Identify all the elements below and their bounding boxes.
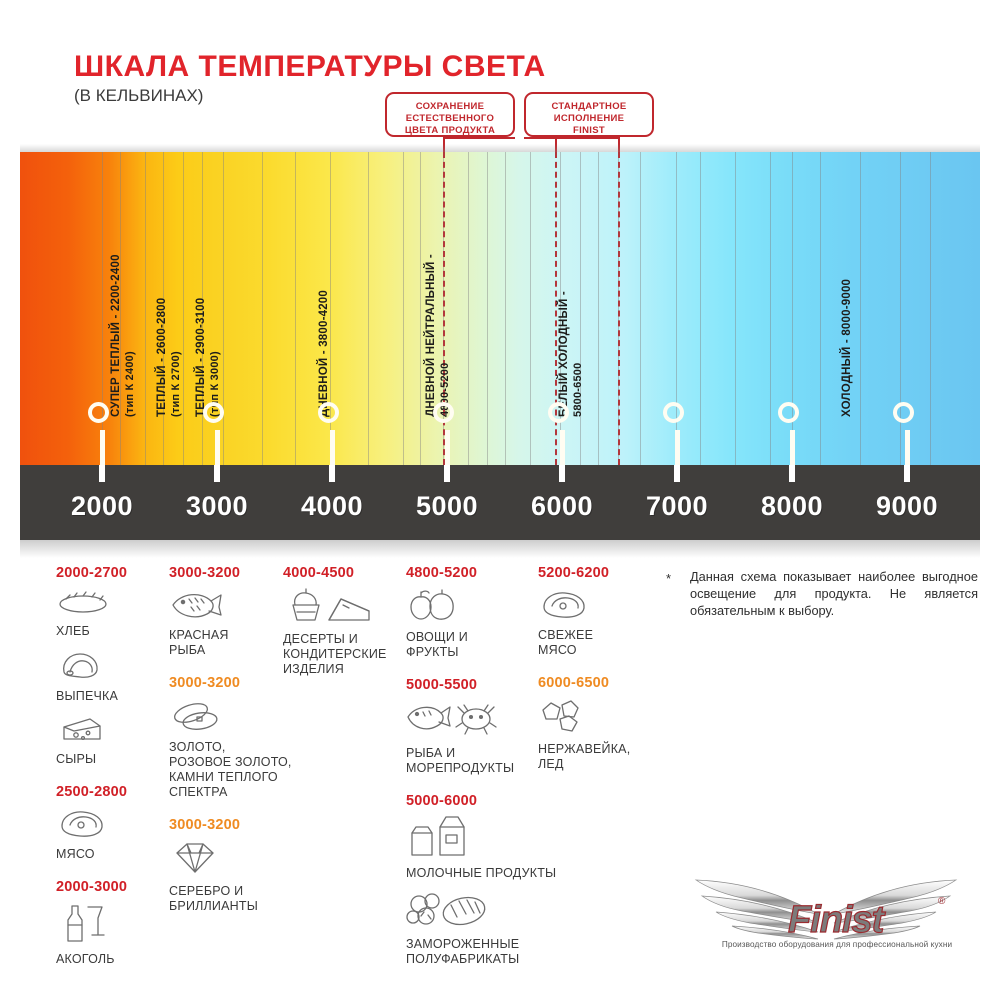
band-marker-stem — [675, 430, 680, 465]
band-divider — [770, 152, 771, 465]
legend-item-label: ЗАМОРОЖЕННЫЕ ПОЛУФАБРИКАТЫ — [406, 937, 556, 967]
band-divider — [295, 152, 296, 465]
legend-item-label: СЫРЫ — [56, 752, 127, 767]
band-marker-circle — [893, 402, 914, 423]
band-marker-stem — [445, 430, 450, 465]
legend-item-label: МЯСО — [56, 847, 127, 862]
legend-block: 4800-5200ОВОЩИ И ФРУКТЫ — [406, 565, 556, 660]
band-marker-circle — [433, 402, 454, 423]
legend-item: ЗОЛОТО, РОЗОВОЕ ЗОЛОТО, КАМНИ ТЕПЛОГО СП… — [169, 697, 292, 800]
legend-block: 3000-3200СЕРЕБРО И БРИЛЛИАНТЫ — [169, 817, 292, 914]
legend-item: ХЛЕБ — [56, 587, 127, 639]
legend-item: СЕРЕБРО И БРИЛЛИАНТЫ — [169, 839, 292, 914]
band-label-daylight: ДНЕВНОЙ - 3800-4200 — [318, 290, 330, 417]
scale-tick — [214, 465, 220, 482]
diamond-icon — [169, 839, 292, 882]
band-marker-circle — [663, 402, 684, 423]
legend-item: ОВОЩИ И ФРУКТЫ — [406, 587, 556, 660]
bread-icon — [56, 587, 127, 622]
legend-item: СЫРЫ — [56, 713, 127, 767]
legend-block: 2000-2700ХЛЕБВЫПЕЧКАСЫРЫ — [56, 565, 127, 767]
frozen-icon — [406, 890, 556, 935]
band-divider — [420, 152, 421, 465]
pastry-icon — [56, 648, 127, 687]
legend-item-label: СВЕЖЕЕ МЯСО — [538, 628, 630, 658]
callout-connector — [524, 137, 618, 139]
legend-item-label: РЫБА И МОРЕПРОДУКТЫ — [406, 746, 556, 776]
band-divider — [820, 152, 821, 465]
legend-range-label: 5200-6200 — [538, 565, 630, 581]
callout-line: СТАНДАРТНОЕ — [532, 101, 646, 113]
legend-item: РЫБА И МОРЕПРОДУКТЫ — [406, 699, 556, 776]
callout-line: ЕСТЕСТВЕННОГО — [393, 113, 507, 125]
logo-registered-mark: ® — [938, 896, 945, 907]
legend-block: 5000-6000МОЛОЧНЫЕ ПРОДУКТЫЗАМОРОЖЕННЫЕ П… — [406, 793, 556, 967]
band-divider — [368, 152, 369, 465]
reference-dashed-line — [618, 152, 620, 465]
seafood-icon — [406, 699, 556, 744]
scale-bar-shadow — [20, 540, 980, 558]
band-divider — [860, 152, 861, 465]
band-divider — [530, 152, 531, 465]
ice-icon — [538, 697, 630, 740]
legend-item-label: КРАСНАЯ РЫБА — [169, 628, 292, 658]
callout-line: FINIST — [532, 125, 646, 137]
band-divider — [468, 152, 469, 465]
cheese-icon — [56, 713, 127, 750]
legend-column-1: 2000-2700ХЛЕБВЫПЕЧКАСЫРЫ2500-2800МЯСО200… — [56, 565, 127, 984]
scale-tick — [329, 465, 335, 482]
legend-block: 3000-3200КРАСНАЯ РЫБА — [169, 565, 292, 658]
footnote: * Данная схема показывает наиболее выгод… — [666, 568, 978, 619]
legend-block: 2000-3000АКОГОЛЬ — [56, 879, 127, 967]
band-marker-stem — [215, 430, 220, 465]
band-divider — [183, 152, 184, 465]
legend-range-label: 3000-3200 — [169, 565, 292, 581]
legend-range-label: 3000-3200 — [169, 817, 292, 833]
scale-value-4000: 4000 — [301, 491, 363, 522]
band-label-warm-2700: ТЕПЛЫЙ - 2600-2800 — [156, 298, 168, 417]
band-marker-circle — [318, 402, 339, 423]
legend-item: МЯСО — [56, 806, 127, 862]
fresh-meat-icon — [538, 587, 630, 626]
callout-line: ИСПОЛНЕНИЕ — [532, 113, 646, 125]
legend-column-5: 5200-6200СВЕЖЕЕ МЯСО6000-6500НЕРЖАВЕЙКА,… — [538, 565, 630, 789]
finist-logo: Finist ® Производство оборудования для п… — [676, 866, 976, 966]
scale-value-5000: 5000 — [416, 491, 478, 522]
legend-item-label: ЗОЛОТО, РОЗОВОЕ ЗОЛОТО, КАМНИ ТЕПЛОГО СП… — [169, 740, 292, 800]
legend-item-label: ХЛЕБ — [56, 624, 127, 639]
callout-line: ЦВЕТА ПРОДУКТА — [393, 125, 507, 137]
legend-block: 5200-6200СВЕЖЕЕ МЯСО — [538, 565, 630, 658]
logo-brand-text: Finist — [788, 899, 883, 942]
legend-range-label: 4000-4500 — [283, 565, 387, 581]
fruits-icon — [406, 587, 556, 628]
scale-tick — [674, 465, 680, 482]
band-divider — [505, 152, 506, 465]
legend-range-label: 6000-6500 — [538, 675, 630, 691]
callout-line: СОХРАНЕНИЕ — [393, 101, 507, 113]
band-divider — [145, 152, 146, 465]
band-divider — [262, 152, 263, 465]
gold-rings-icon — [169, 697, 292, 738]
band-divider — [223, 152, 224, 465]
legend-block: 3000-3200ЗОЛОТО, РОЗОВОЕ ЗОЛОТО, КАМНИ Т… — [169, 675, 292, 800]
footnote-marker: * — [666, 570, 671, 587]
logo-tagline: Производство оборудования для профессион… — [712, 940, 962, 949]
legend-item: НЕРЖАВЕЙКА, ЛЕД — [538, 697, 630, 772]
scale-tick — [99, 465, 105, 482]
legend-range-label: 4800-5200 — [406, 565, 556, 581]
band-marker-stem — [560, 430, 565, 465]
legend-range-label: 2500-2800 — [56, 784, 127, 800]
legend-block: 6000-6500НЕРЖАВЕЙКА, ЛЕД — [538, 675, 630, 772]
band-divider — [700, 152, 701, 465]
legend-item-label: АКОГОЛЬ — [56, 952, 127, 967]
band-marker-stem — [790, 430, 795, 465]
band-label-daylight-neutral: ДНЕВНОЙ НЕЙТРАЛЬНЫЙ - — [425, 254, 437, 417]
scale-tick — [559, 465, 565, 482]
legend-item-label: НЕРЖАВЕЙКА, ЛЕД — [538, 742, 630, 772]
dairy-icon — [406, 815, 556, 864]
band-marker-circle — [548, 402, 569, 423]
legend-item-label: ОВОЩИ И ФРУКТЫ — [406, 630, 556, 660]
band-label-white-cold: БЕЛЫЙ ХОЛОДНЫЙ - — [558, 291, 570, 417]
band-divider — [580, 152, 581, 465]
band-marker-stem — [100, 430, 105, 465]
band-marker-stem — [330, 430, 335, 465]
page-subtitle: (В КЕЛЬВИНАХ) — [74, 86, 203, 106]
scale-tick — [904, 465, 910, 482]
legend-block: 5000-5500РЫБА И МОРЕПРОДУКТЫ — [406, 677, 556, 776]
legend-column-3: 4000-4500ДЕСЕРТЫ И КОНДИТЕРСКИЕ ИЗДЕЛИЯ — [283, 565, 387, 694]
band-label-super-warm: (тип К 2400) — [124, 351, 136, 417]
dessert-icon — [283, 587, 387, 630]
band-label-super-warm: СУПЕР ТЕПЛЫЙ - 2200-2400 — [110, 254, 122, 417]
band-marker-circle — [203, 402, 224, 423]
legend-item: АКОГОЛЬ — [56, 901, 127, 967]
legend-item-label: ДЕСЕРТЫ И КОНДИТЕРСКИЕ ИЗДЕЛИЯ — [283, 632, 387, 677]
callout-natural-color: СОХРАНЕНИЕЕСТЕСТВЕННОГОЦВЕТА ПРОДУКТА — [385, 92, 515, 137]
legend-block: 2500-2800МЯСО — [56, 784, 127, 862]
band-divider — [640, 152, 641, 465]
footnote-text: Данная схема показывает наиболее выгодно… — [666, 568, 978, 619]
scale-value-3000: 3000 — [186, 491, 248, 522]
legend-item: МОЛОЧНЫЕ ПРОДУКТЫ — [406, 815, 556, 881]
legend-column-2: 3000-3200КРАСНАЯ РЫБА3000-3200ЗОЛОТО, РО… — [169, 565, 292, 931]
band-marker-circle — [88, 402, 109, 423]
band-marker-circle — [778, 402, 799, 423]
scale-tick — [444, 465, 450, 482]
band-divider — [930, 152, 931, 465]
band-marker-stem — [905, 430, 910, 465]
page-title: ШКАЛА ТЕМПЕРАТУРЫ СВЕТА — [74, 50, 546, 84]
legend-item-label: СЕРЕБРО И БРИЛЛИАНТЫ — [169, 884, 292, 914]
band-divider — [735, 152, 736, 465]
scale-value-2000: 2000 — [71, 491, 133, 522]
alcohol-icon — [56, 901, 127, 950]
callout-finist-standard: СТАНДАРТНОЕИСПОЛНЕНИЕFINIST — [524, 92, 654, 137]
red-fish-icon — [169, 587, 292, 626]
legend-column-4: 4800-5200ОВОЩИ И ФРУКТЫ5000-5500РЫБА И М… — [406, 565, 556, 984]
legend-range-label: 3000-3200 — [169, 675, 292, 691]
scale-value-9000: 9000 — [876, 491, 938, 522]
band-label-white-cold: 5800-6500 — [572, 363, 584, 417]
band-divider — [403, 152, 404, 465]
scale-value-6000: 6000 — [531, 491, 593, 522]
callout-connector — [443, 137, 515, 139]
legend-item: ЗАМОРОЖЕННЫЕ ПОЛУФАБРИКАТЫ — [406, 890, 556, 967]
legend-item-label: МОЛОЧНЫЕ ПРОДУКТЫ — [406, 866, 556, 881]
band-divider — [598, 152, 599, 465]
legend-range-label: 5000-5500 — [406, 677, 556, 693]
legend-item: СВЕЖЕЕ МЯСО — [538, 587, 630, 658]
legend-item: КРАСНАЯ РЫБА — [169, 587, 292, 658]
legend-range-label: 5000-6000 — [406, 793, 556, 809]
legend-range-label: 2000-2700 — [56, 565, 127, 581]
legend-item: ВЫПЕЧКА — [56, 648, 127, 704]
legend-item-label: ВЫПЕЧКА — [56, 689, 127, 704]
band-label-warm-3000: ТЕПЛЫЙ - 2900-3100 — [195, 298, 207, 417]
band-label-cold: ХОЛОДНЫЙ - 8000-9000 — [841, 279, 853, 417]
legend-range-label: 2000-3000 — [56, 879, 127, 895]
legend-block: 4000-4500ДЕСЕРТЫ И КОНДИТЕРСКИЕ ИЗДЕЛИЯ — [283, 565, 387, 677]
kelvin-scale-bar: 20003000400050006000700080009000 — [20, 465, 980, 540]
meat-icon — [56, 806, 127, 845]
scale-value-7000: 7000 — [646, 491, 708, 522]
legend-item: ДЕСЕРТЫ И КОНДИТЕРСКИЕ ИЗДЕЛИЯ — [283, 587, 387, 677]
scale-tick — [789, 465, 795, 482]
band-label-warm-2700: (тип К 2700) — [170, 351, 182, 417]
infographic-page: ШКАЛА ТЕМПЕРАТУРЫ СВЕТА (В КЕЛЬВИНАХ) СО… — [0, 0, 1000, 1000]
color-temperature-band: СУПЕР ТЕПЛЫЙ - 2200-2400(тип К 2400)ТЕПЛ… — [20, 152, 980, 465]
band-divider — [487, 152, 488, 465]
scale-value-8000: 8000 — [761, 491, 823, 522]
